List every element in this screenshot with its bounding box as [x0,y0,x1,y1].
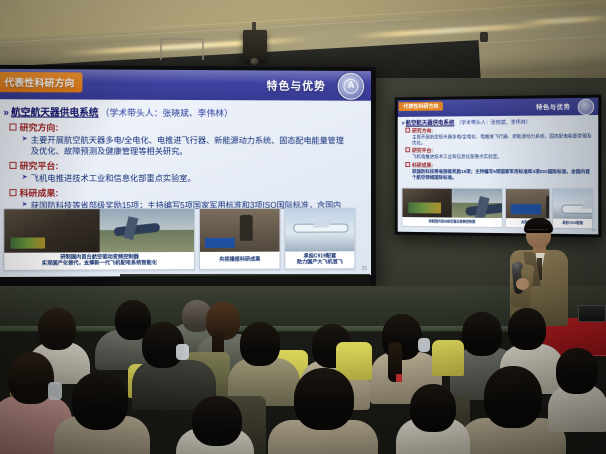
main-projection-screen: 代表性科研方向 特色与优势 A » 航空航天器供电系统 （学术带头人：张晓斌、李… [0,65,376,289]
thumbnail-caption: 承担C919配套助力国产大飞机首飞 [285,251,354,268]
controller-unit-photo [4,209,99,253]
slide-heading: 航空航天器供电系统 [11,104,99,118]
section-label-row: 科研成果: [9,186,364,199]
slide2-heading-row: » 航空航天器供电系统 （学术带头人：张晓斌、李伟林） [402,117,595,127]
slide-section-tab: 代表性科研方向 [0,72,83,93]
square-bullet-icon [405,162,410,167]
thumbnail-caption: 央视播报科研成果 [200,252,279,269]
slide-main: 代表性科研方向 特色与优势 A » 航空航天器供电系统 （学术带头人：张晓斌、李… [0,69,371,277]
slide2-section-text: 飞机电推进技术工业和信息化部重点实验室。 [412,154,594,161]
lecture-hall-photo: 代表性科研方向 特色与优势 A » 航空航天器供电系统 （学术带头人：张晓斌、李… [0,0,606,454]
thumbnail-pictures [402,189,501,218]
slide-heading-note: （学术带头人：张晓斌、李伟林） [101,106,233,119]
person-head [410,384,456,432]
square-bullet-icon [405,148,410,153]
seat-back [432,340,464,376]
person-head [240,322,280,366]
section-label: 科研成果: [20,186,59,199]
chevron-double-right-icon: » [402,121,404,127]
slide-band-title: 特色与优势 [267,77,326,93]
slide-thumbnail-strip: 研制国内首台航空驱动变频控制器实现国产化替代，支撑新一代飞机配电系统智能化 央视… [3,208,355,271]
section-label: 研究方向: [20,120,59,133]
university-emblem-icon: A [338,73,364,100]
slide2-heading: 航空航天器供电系统 [406,118,455,126]
slide2-body: » 航空航天器供电系统 （学术带头人：张晓斌、李伟林） 研究方向: 主要开展航空… [402,117,595,181]
square-bullet-icon [405,128,410,133]
slide2-section-label: 科研成果: [412,162,433,169]
person-head [294,368,354,430]
glasses-icon [527,229,548,236]
slide2-section-text: 主要开展航空航天器多电/全电化、电推进飞行器、新能源动力系统、固态配电能量管理及… [412,133,594,146]
square-bullet-icon [9,162,16,169]
thumbnail-caption: 研制国内首台航空驱动变频控制器 [402,217,501,227]
person-head [72,372,128,430]
person-head [556,348,598,394]
turboprop-aircraft-photo [452,189,502,218]
presenter-hand [516,278,529,290]
thumbnail-card: 研制国内首台航空驱动变频控制器实现国产化替代，支撑新一代飞机配电系统智能化 [3,208,195,271]
section-text-row: ➤ 飞机电推进技术工业和信息化部重点实验室。 [22,173,364,184]
slide-heading-row: » 航空航天器供电系统 （学术带头人：张晓斌、李伟林） [3,104,364,119]
thumbnail-card: 承担C919配套助力国产大飞机首飞 [284,208,355,270]
section-text: 飞机电推进技术工业和信息化部重点实验室。 [31,173,196,184]
news-interview-photo [200,209,279,252]
c919-airliner-photo [553,189,592,219]
controller-unit-photo [402,189,451,218]
thumbnail-pictures [506,189,549,219]
emblem-letter: A [348,81,354,90]
person-head [484,366,542,428]
slide2-section-tab: 代表性科研方向 [399,102,444,111]
slide2-band-title: 特色与优势 [536,102,570,112]
ceiling-spotlight [480,32,488,42]
news-interview-photo [506,189,549,219]
face-mask [176,344,189,360]
thumbnail-caption: 研制国内首台航空驱动变频控制器实现国产化替代，支撑新一代飞机配电系统智能化 [4,252,194,270]
name-badge [396,374,402,382]
slide2-page-number: 25 [591,228,595,232]
projector-lens [250,58,259,65]
section-label-row: 研究平台: [9,159,364,172]
person-head [38,308,76,350]
section-text: 主要开展航空航天器多电/全电化、电推进飞行器、新能源动力系统、固态配电能量管理 … [31,135,344,158]
face-mask [48,382,62,400]
projector-mount-bracket [160,38,204,60]
square-bullet-icon [9,189,16,196]
c919-airliner-photo [285,209,354,252]
university-emblem-icon [578,99,594,115]
slide2-heading-note: （学术带头人：张晓斌、李伟林） [456,119,530,127]
thumbnail-pictures [4,209,194,253]
thumbnail-pictures [200,209,279,252]
thumbnail-card: 央视播报科研成果 [199,208,280,270]
secondary-projection-screen: 代表性科研方向 特色与优势 » 航空航天器供电系统 （学术带头人：张晓斌、李伟林… [395,95,602,238]
microphone-head [512,262,523,271]
slide-page-number: 25 [362,266,367,272]
audience-area [0,300,606,454]
arrow-bullet-icon: ➤ [22,135,28,158]
face-mask [418,338,430,352]
thumbnail-pictures [553,189,592,219]
turboprop-aircraft-photo [100,209,194,252]
person-head [192,396,242,446]
person-head [508,308,546,350]
slide-secondary: 代表性科研方向 特色与优势 » 航空航天器供电系统 （学术带头人：张晓斌、李伟林… [398,98,599,235]
section-text-row: ➤ 主要开展航空航天器多电/全电化、电推进飞行器、新能源动力系统、固态配电能量管… [22,135,364,158]
section-label-row: 研究方向: [9,120,364,134]
thumbnail-card: 研制国内首台航空驱动变频控制器 [402,188,503,228]
ceiling-projector [243,30,267,60]
square-bullet-icon [9,123,16,130]
chevron-double-right-icon: » [3,107,7,118]
slide2-section-text: 获国防科技等省部级奖励15项；主持编写5项国家军用标准和3项ISO国际标准，含国… [412,169,594,182]
person-head [462,312,502,356]
thumbnail-pictures [285,209,354,252]
arrow-bullet-icon: ➤ [22,173,28,184]
section-label: 研究平台: [20,159,59,172]
